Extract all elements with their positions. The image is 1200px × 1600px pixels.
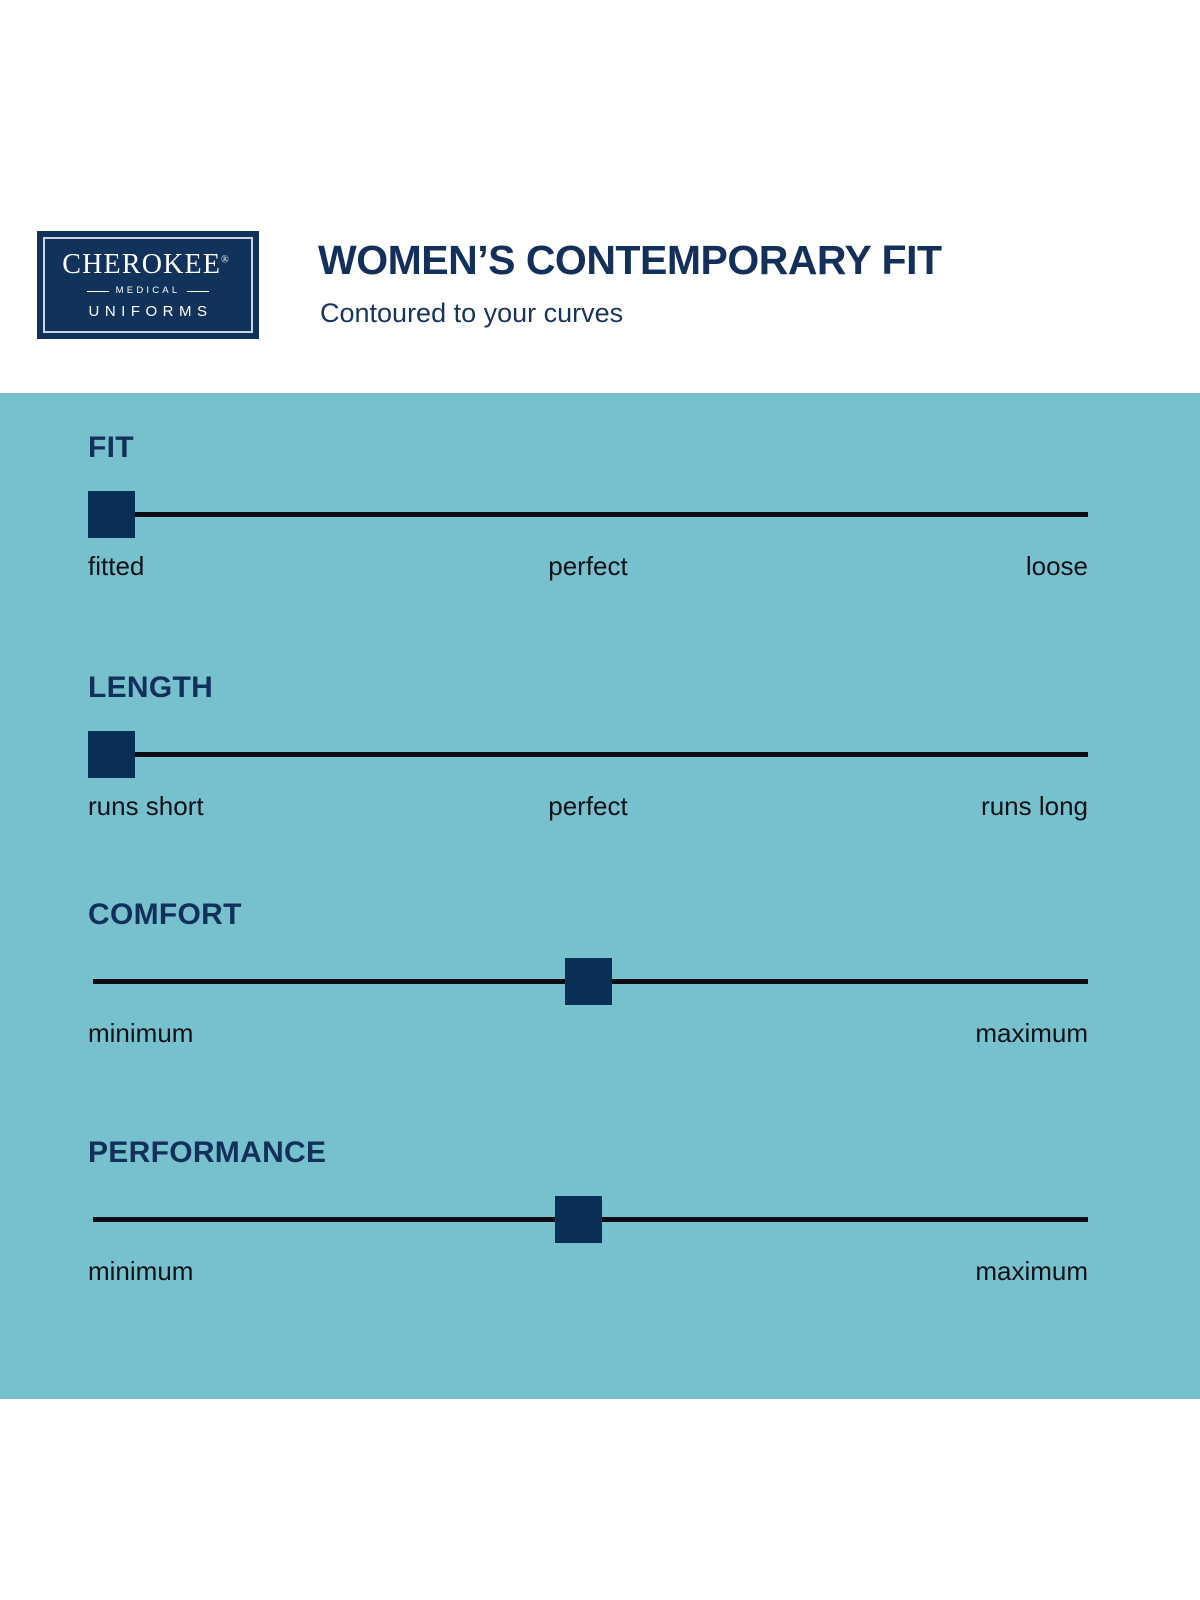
scale-performance-title: PERFORMANCE xyxy=(88,1138,1088,1168)
scale-fit-label-right: loose xyxy=(1026,553,1088,579)
scale-comfort-label-left: minimum xyxy=(88,1020,193,1046)
scale-length-track[interactable] xyxy=(88,725,1088,785)
logo-rule-right-icon xyxy=(187,291,209,292)
scale-performance: PERFORMANCE minimum maximum xyxy=(88,1138,1088,1294)
scale-fit: FIT fitted perfect loose xyxy=(88,433,1088,589)
registered-trademark-icon: ® xyxy=(221,255,229,266)
scale-comfort-labels: minimum maximum xyxy=(88,1020,1088,1056)
logo-text-wrap: CHEROKEE® MEDICAL UNIFORMS xyxy=(37,231,259,339)
scale-comfort-handle[interactable] xyxy=(565,958,612,1005)
scale-length-track-line xyxy=(93,752,1088,757)
scale-performance-track[interactable] xyxy=(88,1190,1088,1250)
page-title: WOMEN’S CONTEMPORARY FIT xyxy=(318,240,942,281)
scale-fit-labels: fitted perfect loose xyxy=(88,553,1088,589)
cherokee-logo[interactable]: CHEROKEE® MEDICAL UNIFORMS xyxy=(37,231,259,339)
logo-brand-name-text: CHEROKEE xyxy=(62,249,221,280)
scale-fit-handle[interactable] xyxy=(88,491,135,538)
scale-comfort-label-right: maximum xyxy=(975,1020,1088,1046)
scale-length-label-right: runs long xyxy=(981,793,1088,819)
scale-fit-track[interactable] xyxy=(88,485,1088,545)
logo-medical-text: MEDICAL xyxy=(116,286,181,296)
logo-rule-left-icon xyxy=(87,291,109,292)
scale-performance-labels: minimum maximum xyxy=(88,1258,1088,1294)
scale-performance-label-right: maximum xyxy=(975,1258,1088,1284)
scale-performance-handle[interactable] xyxy=(555,1196,602,1243)
scale-comfort: COMFORT minimum maximum xyxy=(88,900,1088,1056)
page-subtitle: Contoured to your curves xyxy=(320,300,623,327)
logo-brand-name: CHEROKEE® xyxy=(62,251,234,279)
scale-length-labels: runs short perfect runs long xyxy=(88,793,1088,829)
scale-length: LENGTH runs short perfect runs long xyxy=(88,673,1088,829)
scale-length-title: LENGTH xyxy=(88,673,1088,703)
scale-performance-label-left: minimum xyxy=(88,1258,193,1284)
header-section: CHEROKEE® MEDICAL UNIFORMS WOMEN’S CONTE… xyxy=(0,0,1200,393)
scale-fit-track-line xyxy=(93,512,1088,517)
scale-fit-title: FIT xyxy=(88,433,1088,463)
scale-length-label-middle: perfect xyxy=(548,793,628,819)
logo-medical-line: MEDICAL xyxy=(87,286,210,296)
scale-length-label-left: runs short xyxy=(88,793,204,819)
scale-length-handle[interactable] xyxy=(88,731,135,778)
fit-scales-panel: FIT fitted perfect loose LENGTH runs sho… xyxy=(0,393,1200,1399)
scale-fit-label-middle: perfect xyxy=(548,553,628,579)
scale-comfort-track[interactable] xyxy=(88,952,1088,1012)
scale-fit-label-left: fitted xyxy=(88,553,144,579)
scale-comfort-title: COMFORT xyxy=(88,900,1088,930)
logo-uniforms-text: UNIFORMS xyxy=(84,304,213,319)
